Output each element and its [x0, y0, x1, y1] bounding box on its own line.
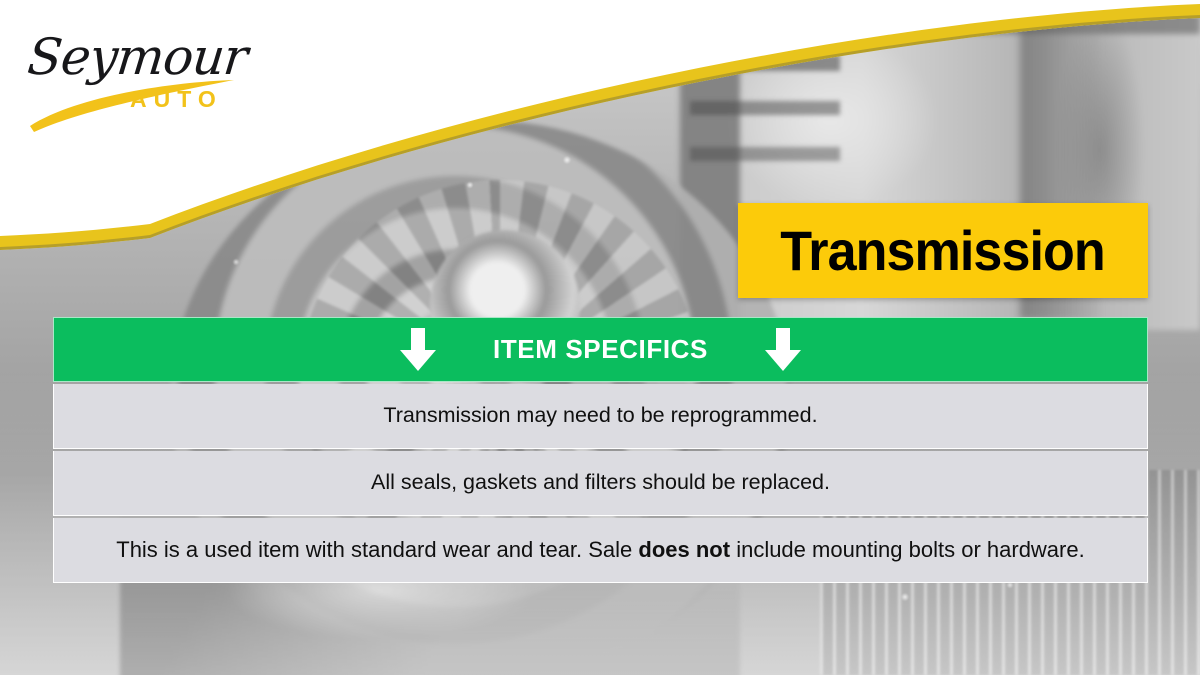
spec-row-text: All seals, gaskets and filters should be… [371, 470, 830, 496]
item-specifics-label: ITEM SPECIFICS [493, 334, 708, 365]
arrow-down-icon [399, 328, 437, 372]
table-row: All seals, gaskets and filters should be… [53, 451, 1148, 516]
item-specifics-table: ITEM SPECIFICS Transmission may need to … [53, 317, 1148, 583]
table-row: This is a used item with standard wear a… [53, 518, 1148, 583]
table-row: Transmission may need to be reprogrammed… [53, 384, 1148, 449]
title-badge: Transmission [738, 203, 1148, 298]
brand-logo[interactable]: Seymour AUTO [22, 24, 242, 136]
spec-row-text: Transmission may need to be reprogrammed… [383, 403, 817, 429]
logo-sub-text: AUTO [130, 86, 223, 113]
item-specifics-header: ITEM SPECIFICS [53, 317, 1148, 382]
slide: Seymour AUTO Transmission ITEM SPECIFICS… [0, 0, 1200, 675]
arrow-down-icon [764, 328, 802, 372]
spec-row-text: This is a used item with standard wear a… [116, 537, 1084, 563]
page-title: Transmission [781, 223, 1106, 279]
